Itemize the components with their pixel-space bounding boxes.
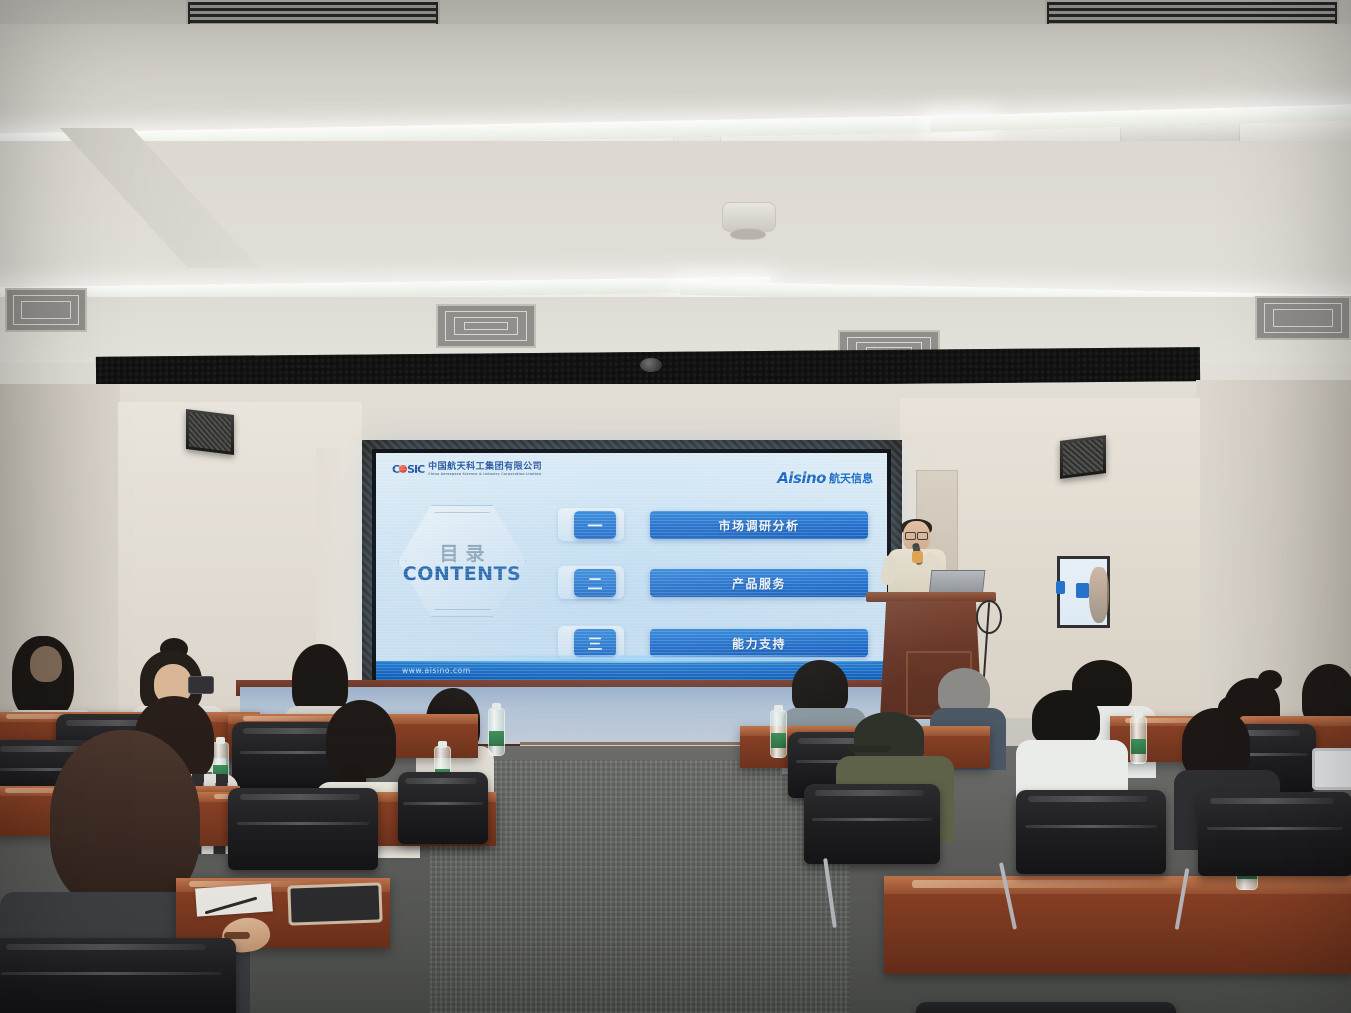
person-13-hair bbox=[1182, 708, 1250, 778]
casic-logo-en-text: China Aerospace Science & Industry Corpo… bbox=[428, 473, 542, 476]
wall-confidence-monitor bbox=[1057, 556, 1110, 628]
bottle-cap bbox=[774, 705, 783, 712]
number-badge-2: 二 bbox=[574, 569, 616, 597]
ceiling bbox=[0, 0, 1351, 420]
number-badge-1: 一 bbox=[574, 511, 616, 539]
hexagon-title-en: CONTENTS bbox=[398, 563, 526, 585]
person-1-head bbox=[30, 646, 62, 682]
bottle-cap bbox=[492, 703, 501, 710]
bottle-cap bbox=[1134, 711, 1143, 718]
bottle-label bbox=[771, 733, 786, 748]
led-video-wall[interactable]: CSIC 中国航天科工集团有限公司 China Aerospace Scienc… bbox=[372, 449, 891, 687]
contents-item-2-label[interactable]: 产品服务 bbox=[650, 569, 868, 597]
chair-foreground-right[interactable] bbox=[916, 1002, 1176, 1013]
ceiling-camera bbox=[640, 358, 662, 372]
ceiling-vent-square-2 bbox=[436, 304, 536, 348]
water-bottle-7[interactable] bbox=[1130, 716, 1147, 764]
casic-logo-cn-wrap: 中国航天科工集团有限公司 China Aerospace Science & I… bbox=[428, 463, 542, 476]
chair-foreground[interactable] bbox=[0, 938, 236, 1013]
slide-footer-url: www.aisino.com bbox=[402, 666, 471, 675]
tablet-device[interactable] bbox=[287, 882, 382, 925]
ceiling-vent-square-4 bbox=[1255, 296, 1351, 340]
bottle-label bbox=[1131, 739, 1146, 754]
chair-b3[interactable] bbox=[804, 784, 940, 864]
contents-item-3-label[interactable]: 能力支持 bbox=[650, 629, 868, 657]
chair-b2[interactable] bbox=[398, 772, 488, 844]
bottle-cap bbox=[438, 741, 447, 748]
casic-logo-dot bbox=[399, 465, 407, 473]
ceiling-projector-arm bbox=[730, 228, 766, 240]
chair-b5[interactable] bbox=[1198, 792, 1351, 876]
monitor-slide-chip-2 bbox=[1076, 583, 1089, 598]
conference-room-photo: CSIC 中国航天科工集团有限公司 China Aerospace Scienc… bbox=[0, 0, 1351, 1013]
presenter-glasses-icon bbox=[905, 532, 928, 538]
water-bottle-5[interactable] bbox=[770, 710, 787, 758]
person-2-phone[interactable] bbox=[188, 676, 214, 694]
bottle-label bbox=[489, 731, 504, 746]
ceiling-vent-square-1 bbox=[5, 288, 87, 332]
desk-gloss bbox=[912, 880, 1203, 888]
water-bottle-4[interactable] bbox=[488, 708, 505, 756]
presenter-hand-on-mic bbox=[912, 551, 923, 563]
person-5-hair bbox=[792, 660, 848, 714]
hexagon-title-cn: 目录 bbox=[398, 539, 526, 566]
chair-b4[interactable] bbox=[1016, 790, 1166, 874]
desk-row-b-right bbox=[884, 876, 1351, 974]
contents-hexagon: 目录 CONTENTS bbox=[398, 505, 526, 617]
wall-speaker-left bbox=[186, 409, 234, 455]
tablet-device-right[interactable] bbox=[1312, 748, 1351, 790]
wall-speaker-right bbox=[1060, 435, 1106, 479]
chair-b1[interactable] bbox=[228, 788, 378, 870]
aisino-logo-en-text: Aisino bbox=[777, 469, 826, 487]
aisino-logo: Aisino 航天信息 bbox=[777, 469, 873, 487]
monitor-person-reflection bbox=[1089, 567, 1109, 623]
person-12-hair bbox=[1032, 690, 1100, 746]
monitor-slide-chip-1 bbox=[1056, 581, 1065, 594]
aisino-logo-cn-text: 航天信息 bbox=[829, 470, 873, 486]
podium-top-surface bbox=[866, 592, 996, 602]
confidence-monitor-screen bbox=[1060, 559, 1107, 625]
person-14-cap-brim bbox=[846, 746, 892, 752]
casic-logo: CSIC 中国航天科工集团有限公司 China Aerospace Scienc… bbox=[392, 463, 542, 476]
casic-logo-mark: CSIC bbox=[392, 463, 424, 476]
presentation-slide: CSIC 中国航天科工集团有限公司 China Aerospace Scienc… bbox=[376, 453, 887, 683]
contents-item-1-label[interactable]: 市场调研分析 bbox=[650, 511, 868, 539]
number-badge-3: 三 bbox=[574, 629, 616, 657]
casic-logo-cn-text: 中国航天科工集团有限公司 bbox=[428, 462, 542, 472]
